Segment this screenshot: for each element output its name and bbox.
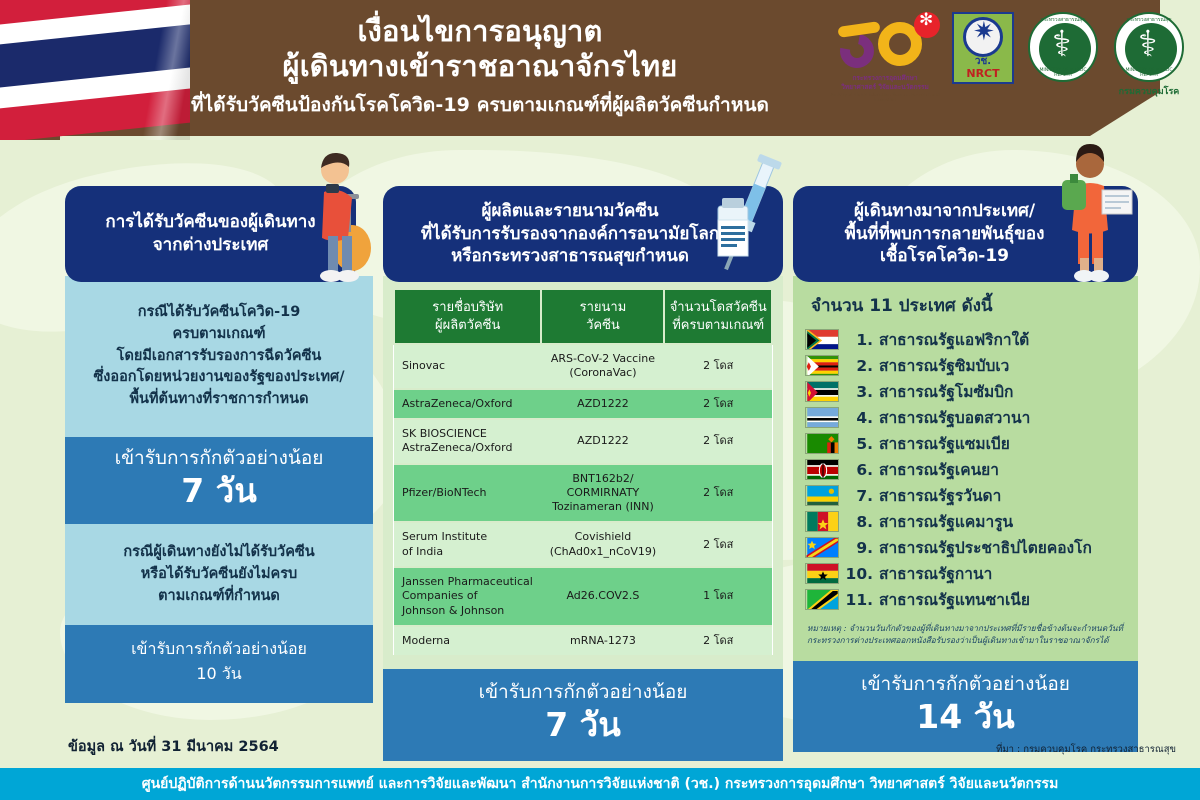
cell-vaccine: Ad26.COV2.S bbox=[541, 567, 664, 626]
cell-doses: 1 โดส bbox=[664, 567, 772, 626]
country-number: 7. bbox=[845, 487, 873, 505]
vaccine-table-header-row: รายชื่อบริษัท ผู้ผลิตวัคซีนรายนาม วัคซีน… bbox=[394, 289, 772, 344]
cell-vaccine: AZD1222 bbox=[541, 389, 664, 419]
country-list: 1.สาธารณรัฐแอฟริกาใต้2.สาธารณรัฐซิมบับเว… bbox=[805, 327, 1126, 612]
country-name: สาธารณรัฐบอตสวานา bbox=[879, 405, 1030, 430]
cell-manufacturer: Sinovac bbox=[394, 344, 541, 389]
logo-group: กระทรวงการอุดมศึกษา วิทยาศาสตร์ วิจัยและ… bbox=[830, 12, 1186, 103]
cell-manufacturer: Moderna bbox=[394, 626, 541, 655]
cell-manufacturer: Janssen Pharmaceutical Companies of John… bbox=[394, 567, 541, 626]
cell-manufacturer: AstraZeneca/Oxford bbox=[394, 389, 541, 419]
ddc-caduceus-icon: กระทรวงสาธารณสุข MINISTRY OF PUBLIC HEAL… bbox=[1114, 12, 1184, 82]
mhesi-mark-icon bbox=[830, 12, 940, 74]
vaccine-table-col-1: รายชื่อบริษัท ผู้ผลิตวัคซีน bbox=[394, 289, 541, 344]
country-name: สาธารณรัฐเคนยา bbox=[879, 457, 999, 482]
country-name: สาธารณรัฐซิมบับเว bbox=[879, 353, 1009, 378]
cell-doses: 2 โดส bbox=[664, 626, 772, 655]
mhesi-logo: กระทรวงการอุดมศึกษา วิทยาศาสตร์ วิจัยและ… bbox=[830, 12, 940, 103]
country-number: 11. bbox=[845, 591, 873, 609]
country-list-item: 4.สาธารณรัฐบอตสวานา bbox=[805, 405, 1126, 430]
right-quarantine: เข้ารับการกักตัวอย่างน้อย 14 วัน bbox=[793, 661, 1138, 752]
country-name: สาธารณรัฐรวันดา bbox=[879, 483, 1001, 508]
country-number: 3. bbox=[845, 383, 873, 401]
country-number: 6. bbox=[845, 461, 873, 479]
infographic-page: เงื่อนไขการอนุญาต ผู้เดินทางเข้าราชอาณาจ… bbox=[0, 0, 1200, 800]
flag-ghana-icon bbox=[805, 563, 839, 584]
cell-vaccine: BNT162b2/ CORMIRNATY Tozinameran (INN) bbox=[541, 464, 664, 523]
middle-quarantine: เข้ารับการกักตัวอย่างน้อย 7 วัน bbox=[383, 669, 783, 760]
left-quarantine-2-value: 10 วัน bbox=[71, 662, 367, 687]
ddc-caption: กรมควบคุมโรค bbox=[1112, 84, 1186, 98]
country-number: 5. bbox=[845, 435, 873, 453]
left-case-1-text: กรณีได้รับวัคซีนโควิด-19 ครบตามเกณฑ์ โดย… bbox=[65, 276, 373, 437]
vaccine-table-panel: รายชื่อบริษัท ผู้ผลิตวัคซีนรายนาม วัคซีน… bbox=[383, 276, 783, 669]
nrct-seal-icon bbox=[963, 17, 1003, 57]
country-name: สาธารณรัฐแซมเบีย bbox=[879, 431, 1010, 456]
cell-vaccine: ARS-CoV-2 Vaccine (CoronaVac) bbox=[541, 344, 664, 389]
country-list-item: 7.สาธารณรัฐรวันดา bbox=[805, 483, 1126, 508]
table-row: ModernamRNA-12732 โดส bbox=[394, 626, 772, 655]
vaccine-vial-syringe-icon bbox=[700, 150, 790, 285]
cell-doses: 2 โดส bbox=[664, 522, 772, 567]
country-name: สาธารณรัฐแคมารูน bbox=[879, 509, 1013, 534]
table-row: Serum Institute of IndiaCovishield (ChAd… bbox=[394, 522, 772, 567]
flag-zambia-icon bbox=[805, 433, 839, 454]
left-quarantine-2-label: เข้ารับการกักตัวอย่างน้อย bbox=[71, 637, 367, 662]
right-quarantine-label: เข้ารับการกักตัวอย่างน้อย bbox=[799, 673, 1132, 697]
country-list-item: 3.สาธารณรัฐโมซัมบิก bbox=[805, 379, 1126, 404]
cell-vaccine: AZD1222 bbox=[541, 419, 664, 464]
country-list-note: หมายเหตุ : จำนวนวันกักตัวของผู้ที่เดินทา… bbox=[807, 622, 1124, 647]
country-name: สาธารณรัฐโมซัมบิก bbox=[879, 379, 1013, 404]
nrct-logo: วช. NRCT bbox=[952, 12, 1014, 84]
left-quarantine-1-label: เข้ารับการกักตัวอย่างน้อย bbox=[71, 447, 367, 471]
country-list-item: 1.สาธารณรัฐแอฟริกาใต้ bbox=[805, 327, 1126, 352]
vaccine-table-body: SinovacARS-CoV-2 Vaccine (CoronaVac)2 โด… bbox=[394, 344, 772, 655]
tourist-with-map-illustration-icon bbox=[1050, 138, 1140, 288]
caduceus-icon: กระทรวงสาธารณสุข MINISTRY OF PUBLIC HEAL… bbox=[1028, 12, 1098, 82]
country-count-title: จำนวน 11 ประเทศ ดังนี้ bbox=[811, 292, 1126, 319]
cell-manufacturer: SK BIOSCIENCE AstraZeneca/Oxford bbox=[394, 419, 541, 464]
flag-botswana-icon bbox=[805, 407, 839, 428]
table-row: Janssen Pharmaceutical Companies of John… bbox=[394, 567, 772, 626]
nrct-label-en: NRCT bbox=[966, 68, 999, 79]
country-list-item: 8.สาธารณรัฐแคมารูน bbox=[805, 509, 1126, 534]
left-quarantine-1-value: 7 วัน bbox=[71, 471, 367, 511]
flag-kenya-icon bbox=[805, 459, 839, 480]
page-title: เงื่อนไขการอนุญาต ผู้เดินทางเข้าราชอาณาจ… bbox=[140, 14, 820, 120]
title-line-2: ผู้เดินทางเข้าราชอาณาจักรไทย bbox=[140, 49, 820, 84]
vaccine-table: รายชื่อบริษัท ผู้ผลิตวัคซีนรายนาม วัคซีน… bbox=[393, 288, 773, 655]
cell-vaccine: mRNA-1273 bbox=[541, 626, 664, 655]
country-list-item: 5.สาธารณรัฐแซมเบีย bbox=[805, 431, 1126, 456]
country-number: 4. bbox=[845, 409, 873, 427]
left-quarantine-2: เข้ารับการกักตัวอย่างน้อย 10 วัน bbox=[65, 625, 373, 703]
data-date: ข้อมูล ณ วันที่ 31 มีนาคม 2564 bbox=[68, 735, 279, 758]
country-name: สาธารณรัฐประชาธิปไตยคองโก bbox=[879, 535, 1092, 560]
country-list-item: 11.สาธารณรัฐแทนซาเนีย bbox=[805, 587, 1126, 612]
middle-quarantine-label: เข้ารับการกักตัวอย่างน้อย bbox=[389, 681, 777, 705]
table-row: SinovacARS-CoV-2 Vaccine (CoronaVac)2 โด… bbox=[394, 344, 772, 389]
left-case-2-text: กรณีผู้เดินทางยังไม่ได้รับวัคซีน หรือได้… bbox=[65, 524, 373, 625]
country-number: 2. bbox=[845, 357, 873, 375]
country-list-item: 10.สาธารณรัฐกานา bbox=[805, 561, 1126, 586]
title-line-1: เงื่อนไขการอนุญาต bbox=[140, 14, 820, 49]
country-number: 9. bbox=[845, 539, 873, 557]
source-credit: ที่มา : กรมควบคุมโรค กระทรวงสาธารณสุข bbox=[996, 742, 1176, 757]
vaccine-table-col-3: จำนวนโดสวัคซีน ที่ครบตามเกณฑ์ bbox=[664, 289, 772, 344]
country-list-panel: จำนวน 11 ประเทศ ดังนี้ 1.สาธารณรัฐแอฟริก… bbox=[793, 276, 1138, 661]
cell-doses: 2 โดส bbox=[664, 464, 772, 523]
mhesi-caption: กระทรวงการอุดมศึกษา วิทยาศาสตร์ วิจัยและ… bbox=[830, 74, 940, 103]
cell-manufacturer: Serum Institute of India bbox=[394, 522, 541, 567]
cell-doses: 2 โดส bbox=[664, 389, 772, 419]
country-list-item: 9.สาธารณรัฐประชาธิปไตยคองโก bbox=[805, 535, 1126, 560]
moph-logo: กระทรวงสาธารณสุข MINISTRY OF PUBLIC HEAL… bbox=[1026, 12, 1100, 82]
flag-cameroon-icon bbox=[805, 511, 839, 532]
country-name: สาธารณรัฐแอฟริกาใต้ bbox=[879, 327, 1029, 352]
vaccine-table-col-2: รายนาม วัคซีน bbox=[541, 289, 664, 344]
cell-doses: 2 โดส bbox=[664, 419, 772, 464]
flag-zimbabwe-icon bbox=[805, 355, 839, 376]
flag-dr-congo-icon bbox=[805, 537, 839, 558]
ddc-logo: กระทรวงสาธารณสุข MINISTRY OF PUBLIC HEAL… bbox=[1112, 12, 1186, 98]
middle-quarantine-value: 7 วัน bbox=[389, 705, 777, 745]
country-number: 10. bbox=[845, 565, 873, 583]
country-list-item: 2.สาธารณรัฐซิมบับเว bbox=[805, 353, 1126, 378]
flag-tanzania-icon bbox=[805, 589, 839, 610]
footer-bar: ศูนย์ปฏิบัติการด้านนวัตกรรมการแพทย์ และก… bbox=[0, 768, 1200, 800]
right-quarantine-value: 14 วัน bbox=[799, 697, 1132, 737]
table-row: AstraZeneca/OxfordAZD12222 โดส bbox=[394, 389, 772, 419]
country-name: สาธารณรัฐกานา bbox=[879, 561, 992, 586]
flag-rwanda-icon bbox=[805, 485, 839, 506]
traveler-illustration-icon bbox=[290, 140, 382, 290]
thai-flag-icon bbox=[0, 0, 190, 140]
table-row: Pfizer/BioNTechBNT162b2/ CORMIRNATY Tozi… bbox=[394, 464, 772, 523]
cell-doses: 2 โดส bbox=[664, 344, 772, 389]
left-quarantine-1: เข้ารับการกักตัวอย่างน้อย 7 วัน bbox=[65, 437, 373, 524]
flag-south-africa-icon bbox=[805, 329, 839, 350]
page-subtitle: ที่ได้รับวัคซีนป้องกันโรคโควิด-19 ครบตาม… bbox=[140, 90, 820, 120]
cell-manufacturer: Pfizer/BioNTech bbox=[394, 464, 541, 523]
country-number: 1. bbox=[845, 331, 873, 349]
country-name: สาธารณรัฐแทนซาเนีย bbox=[879, 587, 1030, 612]
flag-mozambique-icon bbox=[805, 381, 839, 402]
country-number: 8. bbox=[845, 513, 873, 531]
cell-vaccine: Covishield (ChAd0x1_nCoV19) bbox=[541, 522, 664, 567]
country-list-item: 6.สาธารณรัฐเคนยา bbox=[805, 457, 1126, 482]
atom-icon bbox=[914, 12, 940, 38]
table-row: SK BIOSCIENCE AstraZeneca/OxfordAZD12222… bbox=[394, 419, 772, 464]
page-header: เงื่อนไขการอนุญาต ผู้เดินทางเข้าราชอาณาจ… bbox=[0, 0, 1200, 140]
